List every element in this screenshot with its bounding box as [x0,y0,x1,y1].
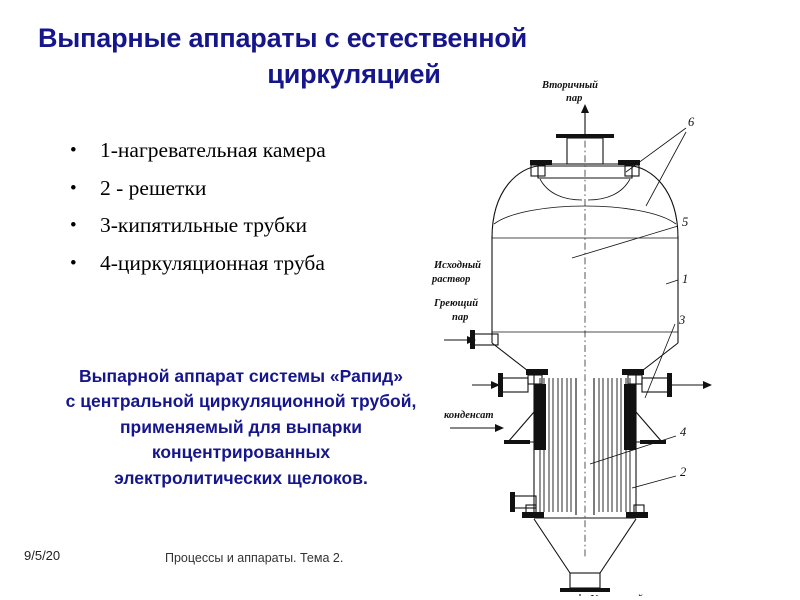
label-heating-steam-line2: пар [452,312,468,323]
list-item-label: 4-циркуляционная труба [100,251,325,275]
list-item-label: 3-кипятильные трубки [100,213,307,237]
bullet-list: • 1-нагревательная камера • 2 - решетки … [66,140,466,290]
caption-line-4: концентрированных [26,440,456,465]
list-item: • 4-циркуляционная труба [66,253,466,275]
callout-4-number: 4 [680,425,686,439]
right-upper-nozzle [642,373,712,397]
product-outlet-nozzle [560,573,610,592]
callout-1-number: 1 [682,272,688,286]
title-line-1: Выпарные аппараты с естественной [30,20,650,56]
secondary-steam-arrow-icon [581,104,589,138]
callout-6-number: 6 [688,115,695,129]
bullet-marker-icon: • [70,254,77,273]
list-item-label: 1-нагревательная камера [100,138,326,162]
list-item: • 2 - решетки [66,178,466,200]
caption-line-1: Выпарной аппарат системы «Рапид» [26,364,456,389]
caption-line-5: электролитических щелоков. [26,466,456,491]
label-concentrated-solution: Упаренный раствор [576,594,643,596]
evaporator-diagram: Вторичный пар Исходный раствор Греющий п… [430,78,800,596]
caption-block: Выпарной аппарат системы «Рапид» с центр… [26,364,456,491]
label-heating-steam: Греющий пар [433,298,500,389]
label-secondary-steam: Вторичный пар [541,80,598,104]
callout-5: 5 [572,215,688,258]
label-feed-solution-line2: раствор [431,274,470,285]
bullet-marker-icon: • [70,179,77,198]
footer-subject: Процессы и аппараты. Тема 2. [165,551,343,565]
label-secondary-steam-line2: пар [566,93,582,104]
caption-line-3: применяемый для выпарки [26,415,456,440]
list-item: • 3-кипятильные трубки [66,215,466,237]
callout-2: 2 [632,465,686,488]
callout-5-number: 5 [682,215,688,229]
bullet-marker-icon: • [70,216,77,235]
callout-2-number: 2 [680,465,686,479]
list-item-label: 2 - решетки [100,176,206,200]
label-condensate-text: конденсат [444,410,494,421]
list-item: • 1-нагревательная камера [66,140,466,162]
condensate-outlet-nozzle [510,492,536,512]
callout-4: 4 [590,425,686,464]
label-concentrated-solution-line1: Упаренный [590,594,643,596]
label-feed-solution-line1: Исходный [433,260,481,271]
heating-steam-inlet-nozzle [498,373,528,397]
presentation-slide: Выпарные аппараты с естественной циркуля… [0,0,800,600]
label-condensate: конденсат [444,410,504,432]
callout-1: 1 [666,272,688,286]
footer-date: 9/5/20 [24,548,60,563]
bullet-marker-icon: • [70,141,77,160]
callout-3-number: 3 [678,313,685,327]
label-secondary-steam-line1: Вторичный [541,80,598,91]
label-heating-steam-line1: Греющий [433,298,478,309]
caption-line-2: с центральной циркуляционной трубой, [26,389,456,414]
